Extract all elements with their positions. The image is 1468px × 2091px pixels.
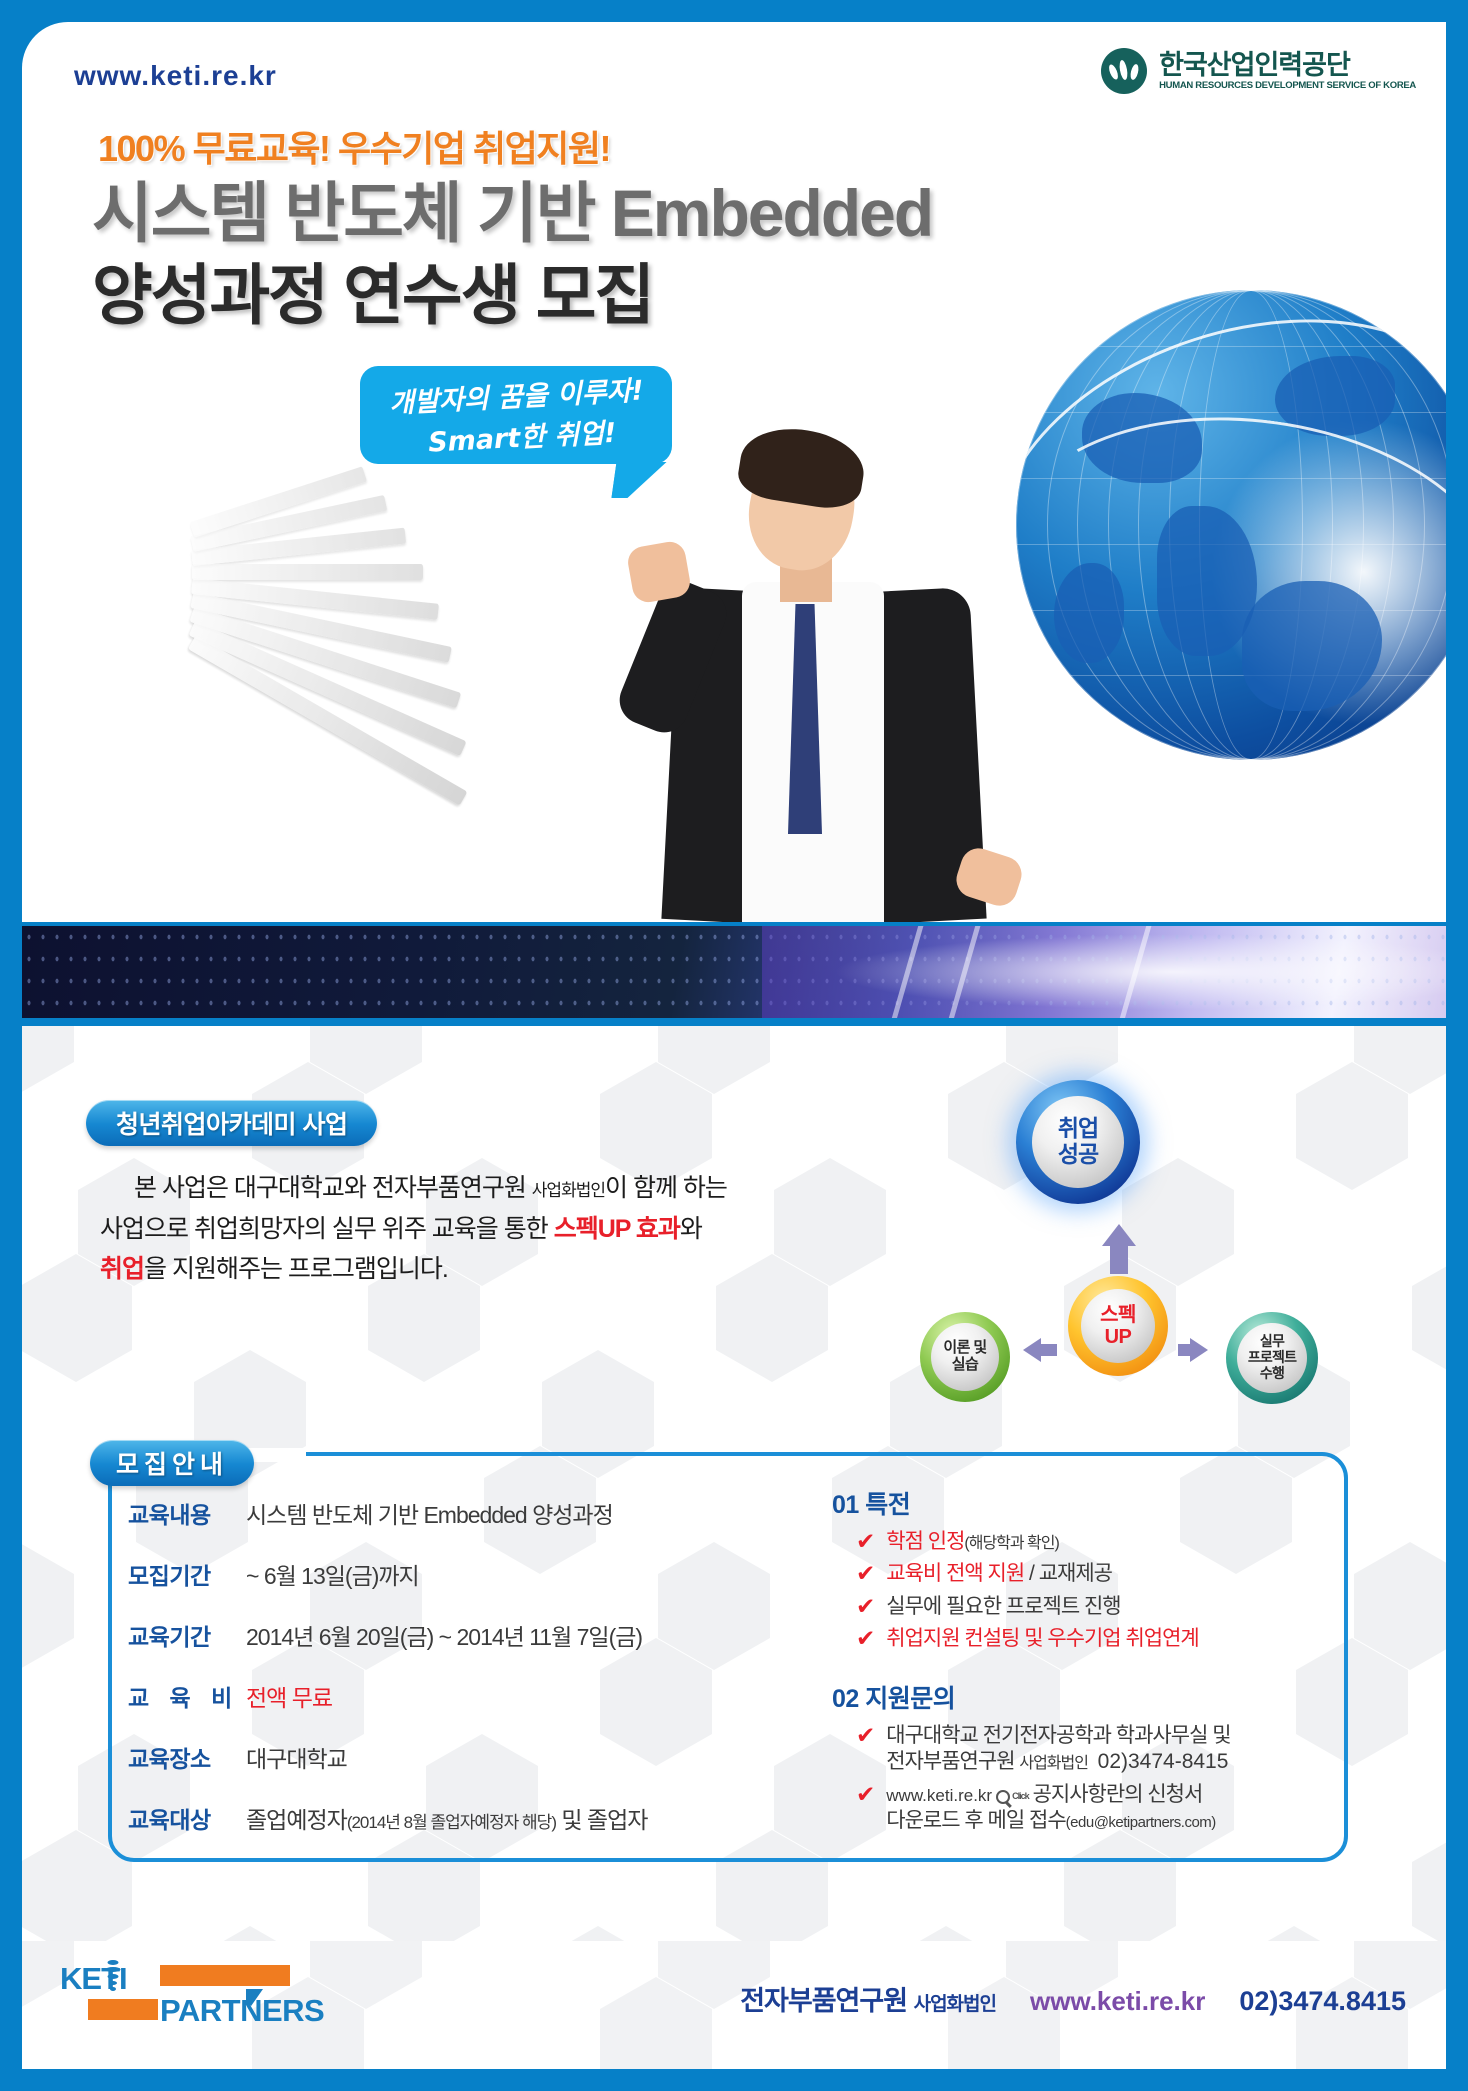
arrow-fan-decoration [192,492,662,712]
inquiry-contact: 대구대학교 전기전자공학과 학과사무실 및 전자부품연구원 사업화법인 02)3… [886,1723,1230,1776]
partners-logo-text: PARTNERS [160,1993,324,2029]
footer-website[interactable]: www.keti.re.kr [1030,1986,1205,2017]
orb-theory-line1: 이론 및 [943,1340,986,1357]
orb-spec-line2: UP [1105,1326,1132,1348]
check-icon: ✔ [856,1723,875,1749]
footer-contact: 전자부품연구원 사업화법인 www.keti.re.kr 02)3474.841… [740,1979,1406,2018]
footer-org-name: 전자부품연구원 [740,1986,907,2016]
hero-card: www.keti.re.kr 한국산업인력공단 HUMAN RESOURCES … [22,22,1446,922]
inquiry-email[interactable]: (edu@ketipartners.com) [1066,1814,1216,1831]
footer-org-suffix: 사업화법인 [914,1994,996,2015]
inquiry-website-link[interactable]: www.keti.re.kr [886,1786,992,1805]
row-value: 졸업예정자 [246,1807,347,1833]
academy-description: 본 사업은 대구대학교와 전자부품연구원 사업화법인이 함께 하는 사업으로 취… [100,1168,800,1290]
benefit-text: 교육비 전액 지원 / 교재제공 [886,1561,1112,1587]
recruit-row: 교육대상 졸업예정자(2014년 8월 졸업자예정자 해당) 및 졸업자 [128,1801,768,1835]
row-label: 모집기간 [128,1557,246,1591]
sponsor-logo: 한국산업인력공단 HUMAN RESOURCES DEVELOPMENT SER… [1101,48,1416,94]
inquiry-list: ✔ 대구대학교 전기전자공학과 학과사무실 및 전자부품연구원 사업화법인 02… [856,1723,1332,1835]
specup-diagram: 취업 성공 스펙 UP 이론 및 실습 실무 프로젝트 수행 [920,1080,1320,1420]
check-icon: ✔ [856,1626,875,1652]
orb-theory-line2: 실습 [952,1357,978,1374]
businessman-photo [622,422,1052,922]
orb-employment-success: 취업 성공 [1016,1080,1140,1204]
benefits-heading: 01 특전 [832,1485,1332,1521]
recruit-row: 교 육 비 전액 무료 [128,1679,768,1713]
page-title-line2: 양성과정 연수생 모집 [92,242,653,338]
orb-practical-project: 실무 프로젝트 수행 [1226,1312,1318,1404]
benefit-text-red: 학점 인정 [886,1530,964,1553]
list-item: ✔ 교육비 전액 지원 / 교재제공 [856,1561,1332,1587]
keti-partners-logo: KETI PARTNERS [60,1959,290,2027]
row-label: 교육대상 [128,1801,246,1835]
intro-text-1a: 본 사업은 대구대학교와 전자부품연구원 [134,1174,532,1202]
recruit-right-column: 01 특전 ✔ 학점 인정(해당학과 확인) ✔ 교육비 전액 지원 / 교재제… [832,1485,1332,1841]
row-value-note: (2014년 8월 졸업자예정자 해당) [347,1813,556,1832]
orb-project-line3: 수행 [1260,1366,1284,1382]
recruit-row: 교육장소 대구대학교 [128,1740,768,1774]
list-item: ✔ www.keti.re.krClick공지사항란의 신청서 다운로드 후 메… [856,1782,1332,1835]
sponsor-name-kr: 한국산업인력공단 [1159,51,1416,79]
row-value-tail: 및 졸업자 [556,1807,647,1833]
benefit-text: 취업지원 컨설팅 및 우수기업 취업연계 [886,1626,1198,1652]
row-label: 교육기간 [128,1618,246,1652]
arrow-left-stem [1178,1344,1196,1356]
section-badge-academy: 청년취업아카데미 사업 [86,1100,377,1146]
keti-logo-dots-icon [102,1959,124,1997]
footer: KETI PARTNERS 전자부품연구원 사업화법인 www.keti.re.… [22,1941,1446,2069]
benefit-text-note: (해당학과 확인) [964,1535,1058,1552]
intro-highlight-specup: 스펙UP 효과 [554,1215,680,1243]
benefit-text: 학점 인정(해당학과 확인) [886,1529,1059,1555]
inquiry-line2-note: 사업화법인 [1019,1755,1088,1772]
magnifier-click-icon: Click [996,1790,1029,1804]
benefit-text: 실무에 필요한 프로젝트 진행 [886,1594,1120,1620]
inquiry-line2a: 전자부품연구원 [886,1750,1019,1773]
decorative-band [22,926,1446,1018]
orb-project-line2: 프로젝트 [1248,1350,1296,1366]
list-item: ✔ 대구대학교 전기전자공학과 학과사무실 및 전자부품연구원 사업화법인 02… [856,1723,1332,1776]
benefits-list: ✔ 학점 인정(해당학과 확인) ✔ 교육비 전액 지원 / 교재제공 ✔ 실무… [856,1529,1332,1653]
recruit-row: 교육기간 2014년 6월 20일(금) ~ 2014년 11월 7일(금) [128,1618,768,1652]
benefit-text-red: 교육비 전액 지원 [886,1562,1024,1585]
intro-text-1small: 사업화법인 [532,1181,605,1200]
check-icon: ✔ [856,1529,875,1555]
recruit-row: 모집기간 ~ 6월 13일(금)까지 [128,1557,768,1591]
speech-bubble-line2: Smart한 취업! [427,411,617,460]
inquiry-line1: 대구대학교 전기전자공학과 학과사무실 및 [886,1724,1230,1747]
orb-success-line1: 취업 [1058,1116,1098,1142]
intro-highlight-employment: 취업 [100,1255,144,1283]
site-url: www.keti.re.kr [74,60,277,92]
arrow-right-stem [1039,1344,1057,1356]
list-item: ✔ 취업지원 컨설팅 및 우수기업 취업연계 [856,1626,1332,1652]
list-item: ✔ 실무에 필요한 프로젝트 진행 [856,1594,1332,1620]
arrow-up-stem [1110,1244,1128,1274]
inquiry-line1-tail: 공지사항란의 신청서 [1033,1783,1203,1806]
row-value: 전액 무료 [246,1679,332,1713]
recruit-row: 교육내용 시스템 반도체 기반 Embedded 양성과정 [128,1496,768,1530]
row-label: 교육장소 [128,1740,246,1774]
footer-phone[interactable]: 02)3474.8415 [1239,1986,1406,2017]
inquiry-phone[interactable]: 02)3474-8415 [1098,1750,1229,1773]
check-icon: ✔ [856,1782,875,1808]
speech-bubble: 개발자의 꿈을 이루자! Smart한 취업! [360,366,672,464]
inquiry-line2: 다운로드 후 메일 접수 [886,1809,1065,1832]
row-value: 시스템 반도체 기반 Embedded 양성과정 [246,1496,613,1530]
intro-text-2a: 사업으로 취업희망자의 실무 위주 교육을 통한 [100,1215,554,1243]
row-value: 대구대학교 [246,1740,347,1774]
row-value: 2014년 6월 20일(금) ~ 2014년 11월 7일(금) [246,1618,642,1652]
band-light-burst [762,926,1446,1018]
row-label: 교 육 비 [128,1679,246,1713]
orb-theory-practice: 이론 및 실습 [920,1312,1010,1402]
check-icon: ✔ [856,1561,875,1587]
inquiry-heading: 02 지원문의 [832,1679,1332,1715]
orb-spec-line1: 스펙 [1100,1304,1136,1326]
sponsor-name-en: HUMAN RESOURCES DEVELOPMENT SERVICE OF K… [1159,80,1416,91]
orb-spec-up: 스펙 UP [1068,1276,1168,1376]
row-value-group: 졸업예정자(2014년 8월 졸업자예정자 해당) 및 졸업자 [246,1801,647,1835]
orb-project-line1: 실무 [1260,1334,1284,1350]
check-icon: ✔ [856,1594,875,1620]
click-label: Click [1012,1791,1029,1802]
intro-text-2b: 와 [680,1215,702,1243]
hrd-korea-mark-icon [1101,48,1147,94]
footer-org: 전자부품연구원 사업화법인 [740,1979,996,2018]
row-value: ~ 6월 13일(금)까지 [246,1557,419,1591]
section-badge-recruit: 모집안내 [90,1440,254,1486]
intro-text-1b: 이 함께 하는 [605,1174,727,1202]
globe-illustration [1016,290,1446,760]
orb-success-line2: 성공 [1058,1142,1098,1168]
list-item: ✔ 학점 인정(해당학과 확인) [856,1529,1332,1555]
benefit-text-gray: / 교재제공 [1024,1562,1112,1585]
recruit-detail-list: 교육내용 시스템 반도체 기반 Embedded 양성과정 모집기간 ~ 6월 … [128,1496,768,1862]
arrow-up-icon [1102,1224,1136,1246]
row-label: 교육내용 [128,1496,246,1530]
intro-text-3b: 을 지원해주는 프로그램입니다. [144,1255,448,1283]
inquiry-download: www.keti.re.krClick공지사항란의 신청서 다운로드 후 메일 … [886,1782,1216,1835]
